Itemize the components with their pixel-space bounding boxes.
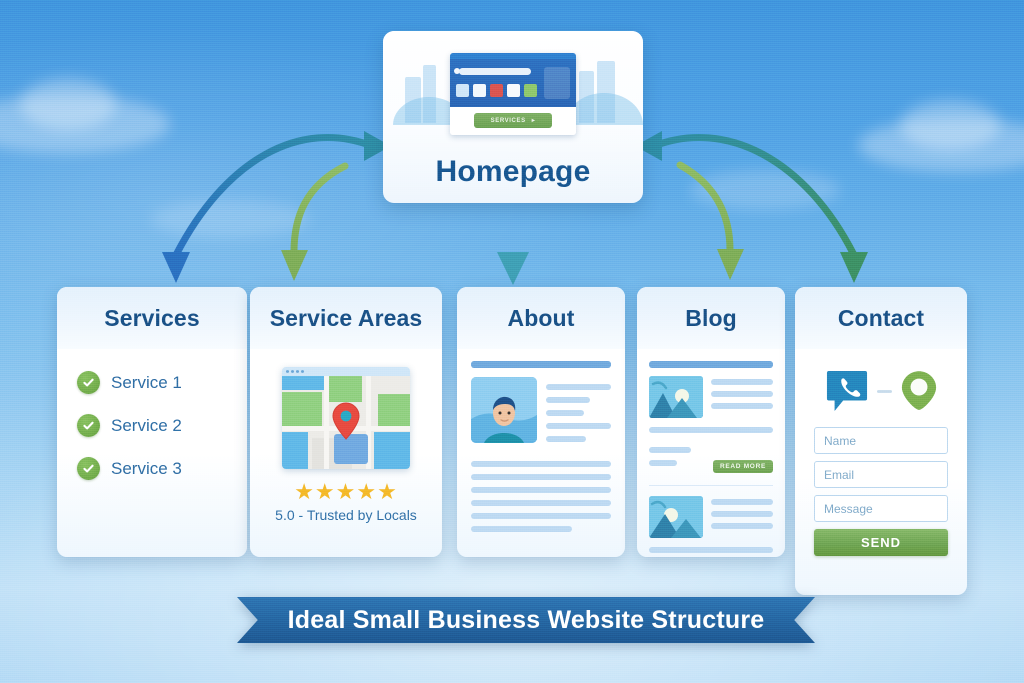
hero-globe-icon [544, 67, 570, 99]
arrow-homepage-to-contact [635, 131, 868, 283]
person-avatar-icon [471, 377, 537, 443]
hero-tiles [456, 84, 537, 97]
text-line [546, 384, 611, 390]
card-services-title: Services [104, 305, 199, 332]
text-line [471, 474, 611, 480]
contact-message-placeholder: Message [824, 502, 873, 516]
connector-dash [877, 390, 892, 393]
service-list-item[interactable]: Service 3 [77, 457, 233, 480]
location-pin-icon [901, 370, 937, 412]
service-list-item[interactable]: Service 2 [77, 414, 233, 437]
cloud-decoration [150, 200, 310, 238]
image-thumbnail-icon [649, 376, 703, 418]
blog-post-item[interactable] [649, 496, 773, 538]
card-about-title: About [508, 305, 575, 332]
text-line [546, 436, 586, 442]
cloud-decoration [900, 100, 1000, 150]
check-circle-icon [77, 371, 100, 394]
text-line [649, 460, 677, 466]
card-contact[interactable]: Contact Name Email Message [795, 287, 967, 595]
text-line [471, 500, 611, 506]
card-contact-title: Contact [838, 305, 924, 332]
banner-title: Ideal Small Business Website Structure [237, 597, 815, 643]
phone-chat-icon [826, 369, 868, 413]
homepage-title: Homepage [383, 155, 643, 189]
card-blog-title: Blog [685, 305, 737, 332]
contact-name-placeholder: Name [824, 434, 856, 448]
contact-email-input[interactable]: Email [814, 461, 948, 488]
cloud-decoration [690, 170, 840, 210]
card-blog-body: READ MORE [637, 349, 785, 557]
infographic-canvas: SERVICES ▸ Homepage Services Service 1 [0, 0, 1024, 683]
card-service-areas-header: Service Areas [250, 287, 442, 349]
homepage-mockup: SERVICES ▸ [450, 53, 576, 135]
rating-caption: 5.0 - Trusted by Locals [264, 507, 428, 523]
text-line [711, 499, 773, 505]
card-blog-header: Blog [637, 287, 785, 349]
arrow-homepage-to-services [162, 131, 391, 283]
card-about-body [457, 349, 625, 549]
text-line [711, 379, 773, 385]
text-line [546, 423, 611, 429]
text-line [649, 447, 691, 453]
service-list-item[interactable]: Service 1 [77, 371, 233, 394]
text-line [711, 511, 773, 517]
card-services[interactable]: Services Service 1 Service 2 Service 3 [57, 287, 247, 557]
card-about-header: About [457, 287, 625, 349]
card-services-header: Services [57, 287, 247, 349]
card-service-areas-body: ★★★★★ 5.0 - Trusted by Locals [250, 349, 442, 535]
text-line [711, 523, 773, 529]
contact-icons [814, 369, 948, 413]
text-line [471, 487, 611, 493]
send-button[interactable]: SEND [814, 529, 948, 556]
service-item-label: Service 2 [111, 416, 182, 436]
text-line [546, 397, 590, 403]
card-service-areas[interactable]: Service Areas [250, 287, 442, 557]
text-line [471, 526, 572, 532]
service-item-label: Service 1 [111, 373, 182, 393]
card-service-areas-title: Service Areas [270, 305, 423, 332]
text-line [649, 361, 773, 368]
card-contact-header: Contact [795, 287, 967, 349]
hill-decoration [565, 93, 643, 125]
arrow-homepage-to-service-areas [281, 166, 345, 281]
cloud-decoration [0, 95, 170, 153]
text-line [471, 361, 611, 368]
play-arrow-icon: ▸ [532, 117, 536, 124]
cloud-decoration [20, 78, 116, 130]
browser-hero [450, 59, 576, 107]
text-line [711, 391, 773, 397]
contact-name-input[interactable]: Name [814, 427, 948, 454]
cloud-decoration [858, 118, 1024, 172]
text-line [649, 547, 773, 553]
read-more-button[interactable]: READ MORE [713, 460, 773, 473]
browser-body: SERVICES ▸ [450, 107, 576, 135]
map-window-icon [282, 367, 410, 469]
map-pin-icon [332, 402, 360, 440]
card-services-body: Service 1 Service 2 Service 3 [57, 349, 247, 512]
map-window-titlebar [282, 367, 410, 376]
image-thumbnail-icon [649, 496, 703, 538]
check-circle-icon [77, 457, 100, 480]
arrow-homepage-to-blog [680, 165, 744, 280]
map-canvas [282, 376, 410, 469]
text-line [471, 513, 611, 519]
banner-ribbon: Ideal Small Business Website Structure [237, 597, 815, 643]
arrow-homepage-to-about [497, 205, 529, 285]
text-line [471, 461, 611, 467]
hero-search-bar [459, 68, 531, 75]
card-blog[interactable]: Blog [637, 287, 785, 557]
card-contact-body: Name Email Message SEND [795, 349, 967, 570]
mockup-cta-button[interactable]: SERVICES ▸ [474, 113, 552, 128]
divider [649, 485, 773, 486]
card-about[interactable]: About [457, 287, 625, 557]
contact-message-input[interactable]: Message [814, 495, 948, 522]
service-item-label: Service 3 [111, 459, 182, 479]
check-circle-icon [77, 414, 100, 437]
mockup-cta-label: SERVICES [491, 118, 526, 124]
homepage-node[interactable]: SERVICES ▸ Homepage [383, 31, 643, 203]
text-line [711, 403, 773, 409]
star-rating-icon: ★★★★★ [264, 481, 428, 503]
blog-post-item[interactable] [649, 376, 773, 418]
text-line [649, 427, 773, 433]
contact-email-placeholder: Email [824, 468, 854, 482]
text-line [546, 410, 584, 416]
